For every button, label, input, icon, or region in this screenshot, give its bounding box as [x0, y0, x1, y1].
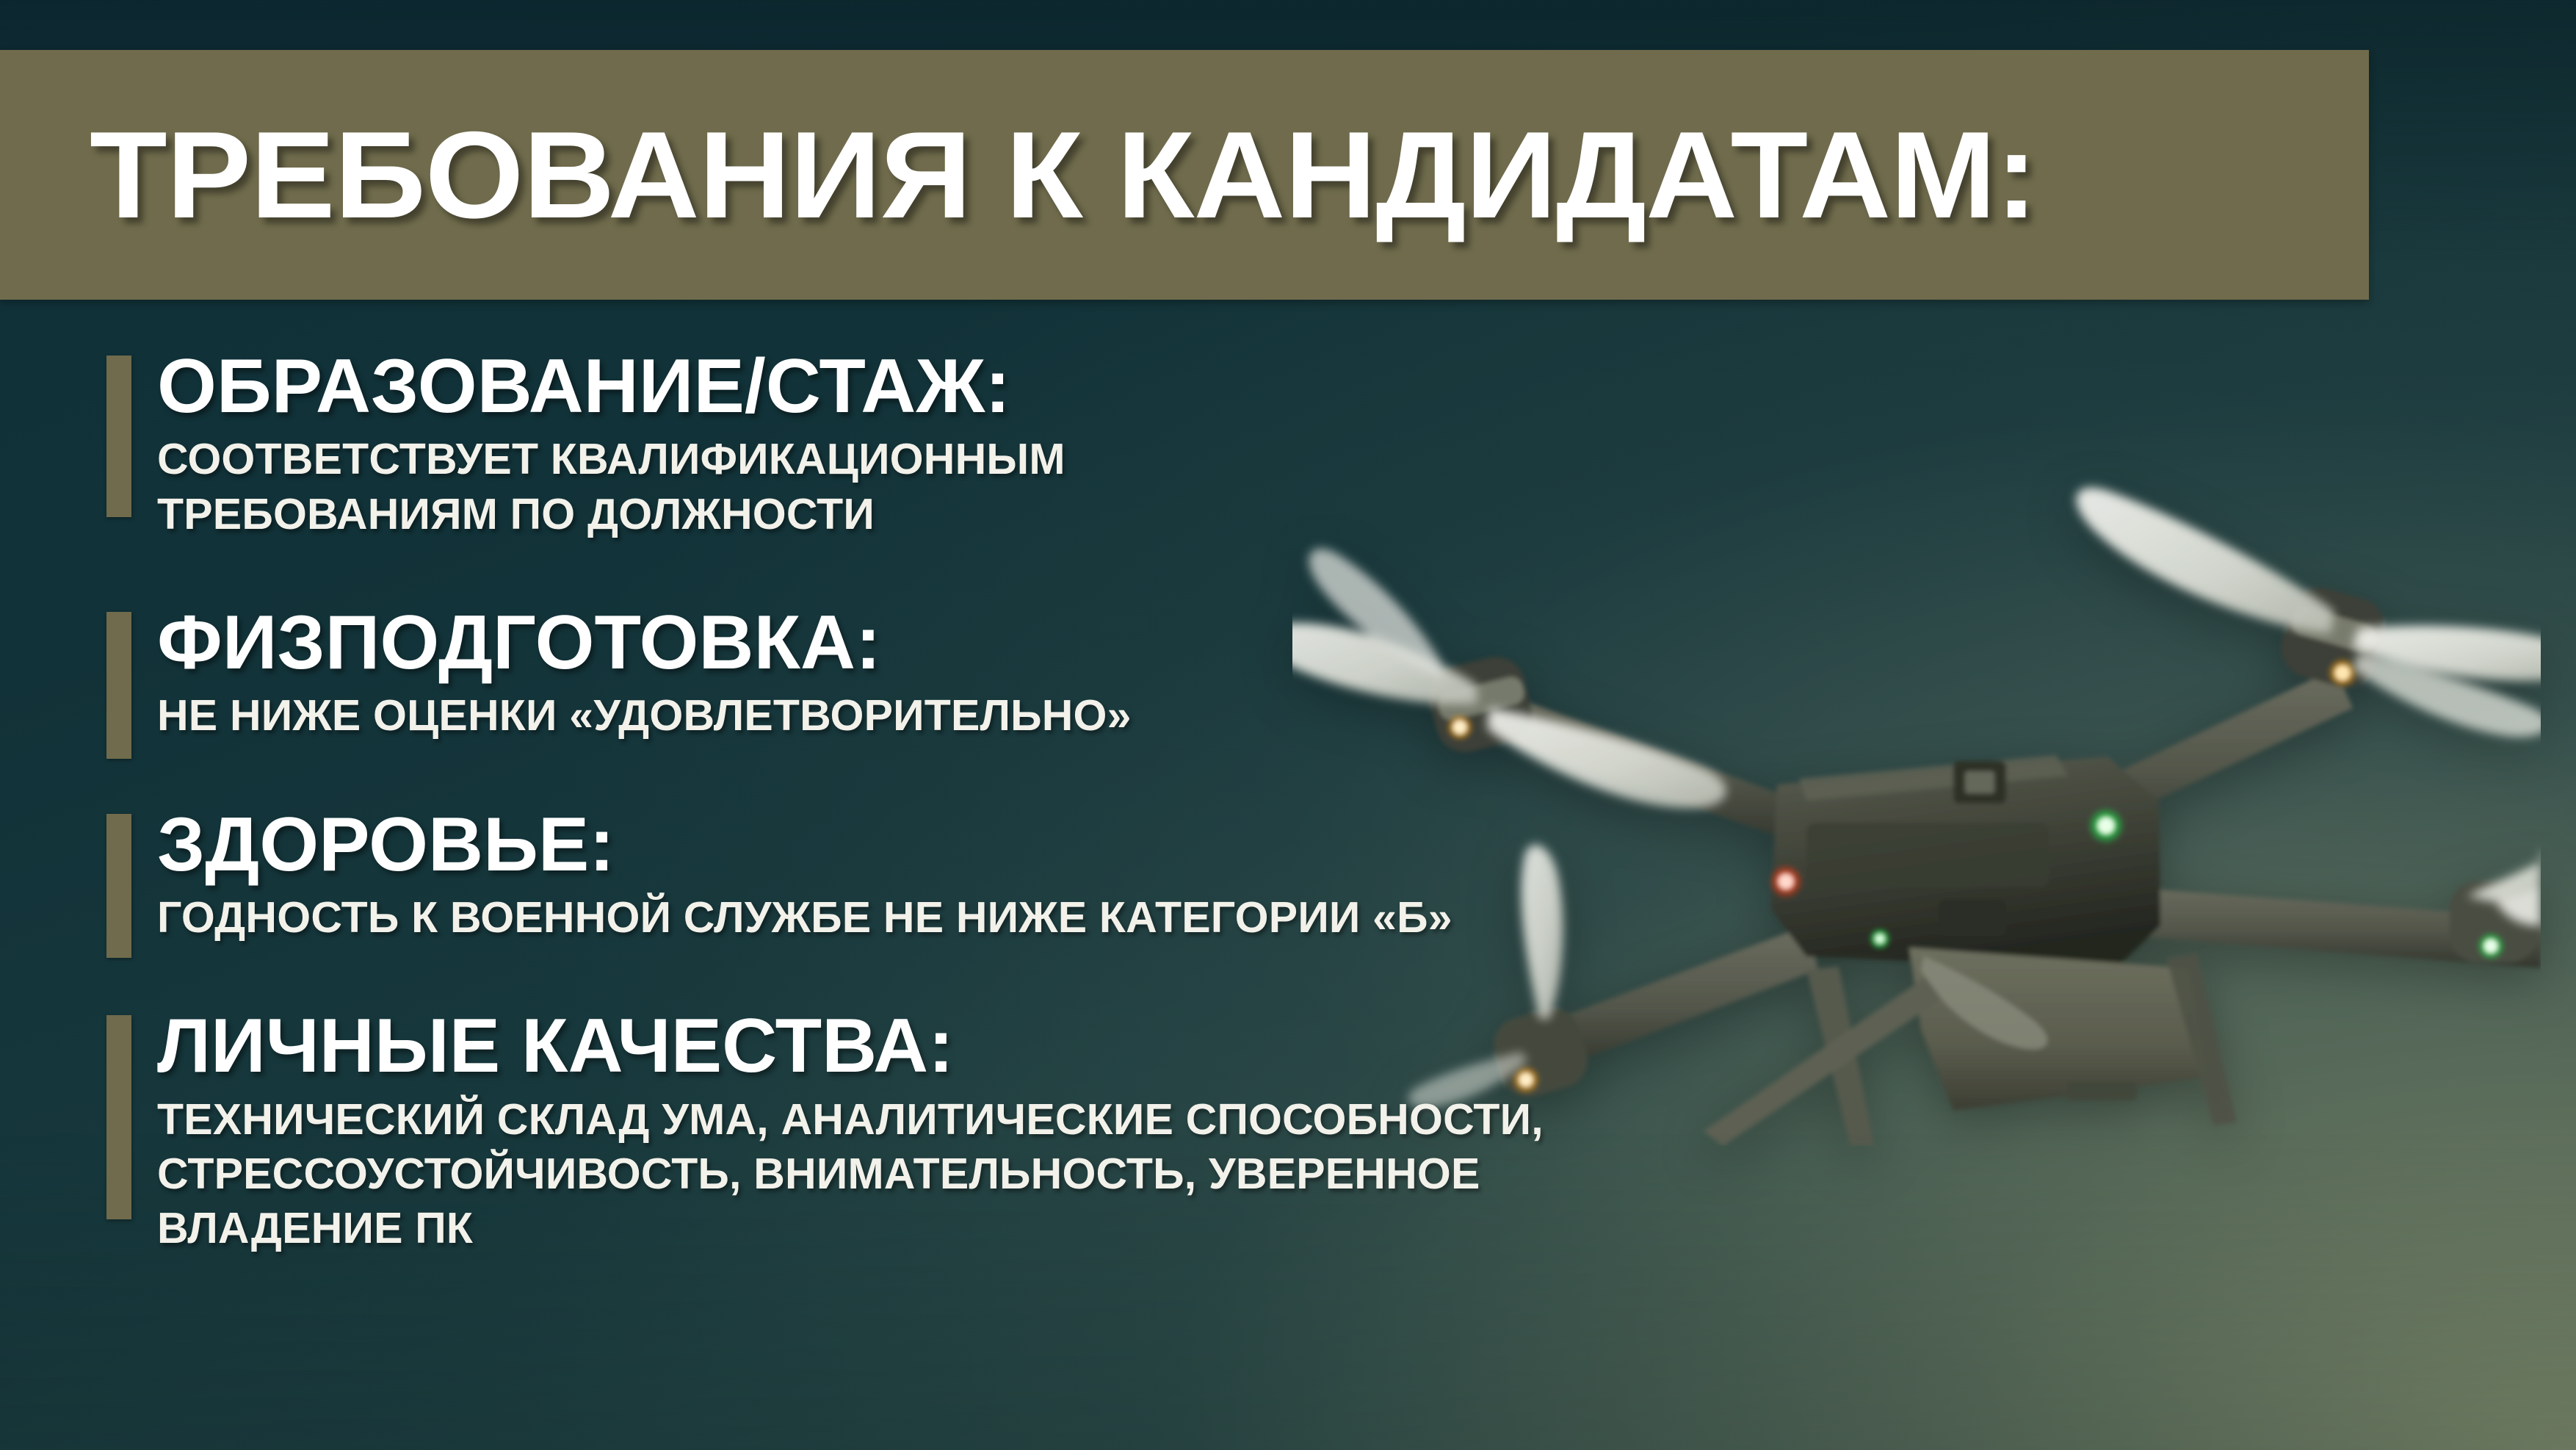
requirement-item-fitness: ФИЗПОДГОТОВКА: НЕ НИЖЕ ОЦЕНКИ «УДОВЛЕТВО… — [0, 602, 1689, 743]
slide-canvas: ТРЕБОВАНИЯ К КАНДИДАТАМ: ОБРАЗОВАНИЕ/СТА… — [0, 0, 2576, 1450]
requirement-item-personal-qualities: ЛИЧНЫЕ КАЧЕСТВА: ТЕХНИЧЕСКИЙ СКЛАД УМА, … — [0, 1005, 1689, 1255]
requirement-body-line: ТЕХНИЧЕСКИЙ СКЛАД УМА, АНАЛИТИЧЕСКИЕ СПО… — [157, 1092, 1689, 1147]
page-title: ТРЕБОВАНИЯ К КАНДИДАТАМ: — [90, 113, 2037, 237]
requirement-item-health: ЗДОРОВЬЕ: ГОДНОСТЬ К ВОЕННОЙ СЛУЖБЕ НЕ Н… — [0, 804, 1689, 945]
requirement-heading: ЗДОРОВЬЕ: — [157, 804, 1689, 886]
accent-bar — [106, 356, 131, 517]
requirement-body-line: СТРЕССОУСТОЙЧИВОСТЬ, ВНИМАТЕЛЬНОСТЬ, УВЕ… — [157, 1147, 1689, 1201]
requirement-heading: ОБРАЗОВАНИЕ/СТАЖ: — [157, 345, 1689, 428]
requirement-body: ТЕХНИЧЕСКИЙ СКЛАД УМА, АНАЛИТИЧЕСКИЕ СПО… — [157, 1092, 1689, 1256]
title-banner: ТРЕБОВАНИЯ К КАНДИДАТАМ: — [0, 50, 2369, 300]
requirement-heading: ЛИЧНЫЕ КАЧЕСТВА: — [157, 1005, 1689, 1087]
requirement-body-line: ВЛАДЕНИЕ ПК — [157, 1201, 1689, 1255]
requirements-list: ОБРАЗОВАНИЕ/СТАЖ: СООТВЕТСТВУЕТ КВАЛИФИК… — [0, 345, 1689, 1256]
requirement-item-education: ОБРАЗОВАНИЕ/СТАЖ: СООТВЕТСТВУЕТ КВАЛИФИК… — [0, 345, 1689, 541]
requirement-body: ГОДНОСТЬ К ВОЕННОЙ СЛУЖБЕ НЕ НИЖЕ КАТЕГО… — [157, 890, 1689, 945]
requirement-heading: ФИЗПОДГОТОВКА: — [157, 602, 1689, 684]
requirement-body-line: ГОДНОСТЬ К ВОЕННОЙ СЛУЖБЕ НЕ НИЖЕ КАТЕГО… — [157, 890, 1689, 945]
requirement-body-line: ТРЕБОВАНИЯМ ПО ДОЛЖНОСТИ — [157, 487, 1689, 541]
requirement-body: СООТВЕТСТВУЕТ КВАЛИФИКАЦИОННЫМ ТРЕБОВАНИ… — [157, 432, 1689, 541]
requirement-body-line: СООТВЕТСТВУЕТ КВАЛИФИКАЦИОННЫМ — [157, 432, 1689, 486]
requirement-body-line: НЕ НИЖЕ ОЦЕНКИ «УДОВЛЕТВОРИТЕЛЬНО» — [157, 688, 1689, 743]
accent-bar — [106, 1015, 131, 1219]
requirement-body: НЕ НИЖЕ ОЦЕНКИ «УДОВЛЕТВОРИТЕЛЬНО» — [157, 688, 1689, 743]
accent-bar — [106, 612, 131, 759]
accent-bar — [106, 814, 131, 958]
